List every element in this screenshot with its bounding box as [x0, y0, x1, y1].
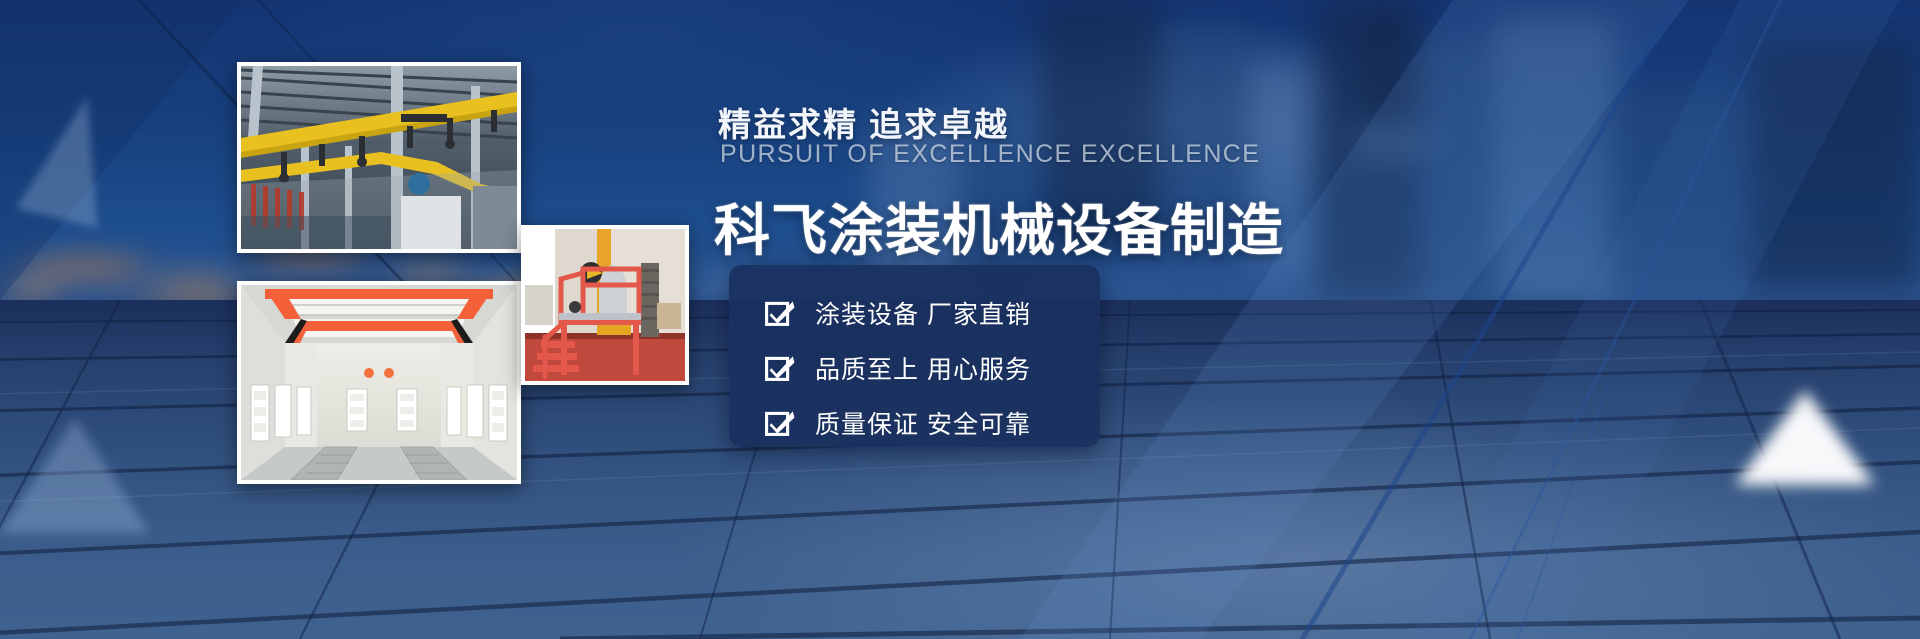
photo-spray-booth-interior-image: [241, 285, 517, 480]
feature-text: 涂装设备 厂家直销: [815, 295, 1031, 331]
list-item: 涂装设备 厂家直销: [765, 291, 1031, 335]
page-title: 科飞涂装机械设备制造: [714, 186, 1284, 267]
feature-text: 品质至上 用心服务: [815, 350, 1031, 386]
promo-banner: 精益求精 追求卓越 PURSUIT OF EXCELLENCE EXCELLEN…: [0, 0, 1920, 639]
slogan-english: PURSUIT OF EXCELLENCE EXCELLENCE: [720, 140, 1260, 169]
glowing-triangle-right: [1735, 390, 1875, 485]
checkbox-checked-icon: [765, 353, 795, 383]
checkbox-checked-icon: [765, 298, 795, 328]
photo-red-work-platform-image: [525, 229, 685, 381]
feature-text: 质量保证 安全可靠: [815, 405, 1031, 441]
photo-red-work-platform: [521, 225, 689, 385]
list-item: 质量保证 安全可靠: [765, 401, 1031, 445]
slogan-chinese: 精益求精 追求卓越: [718, 98, 1009, 146]
checkbox-checked-icon: [765, 408, 795, 438]
translucent-triangle-bottom-left: [0, 418, 150, 533]
feature-list: 涂装设备 厂家直销 品质至上 用心服务: [765, 291, 1031, 445]
feature-highlights-card: 涂装设备 厂家直销 品质至上 用心服务: [729, 265, 1100, 447]
list-item: 品质至上 用心服务: [765, 346, 1031, 390]
photo-overhead-conveyor-line: [237, 62, 521, 253]
photo-overhead-conveyor-line-image: [241, 66, 517, 249]
photo-spray-booth-interior: [237, 281, 521, 484]
